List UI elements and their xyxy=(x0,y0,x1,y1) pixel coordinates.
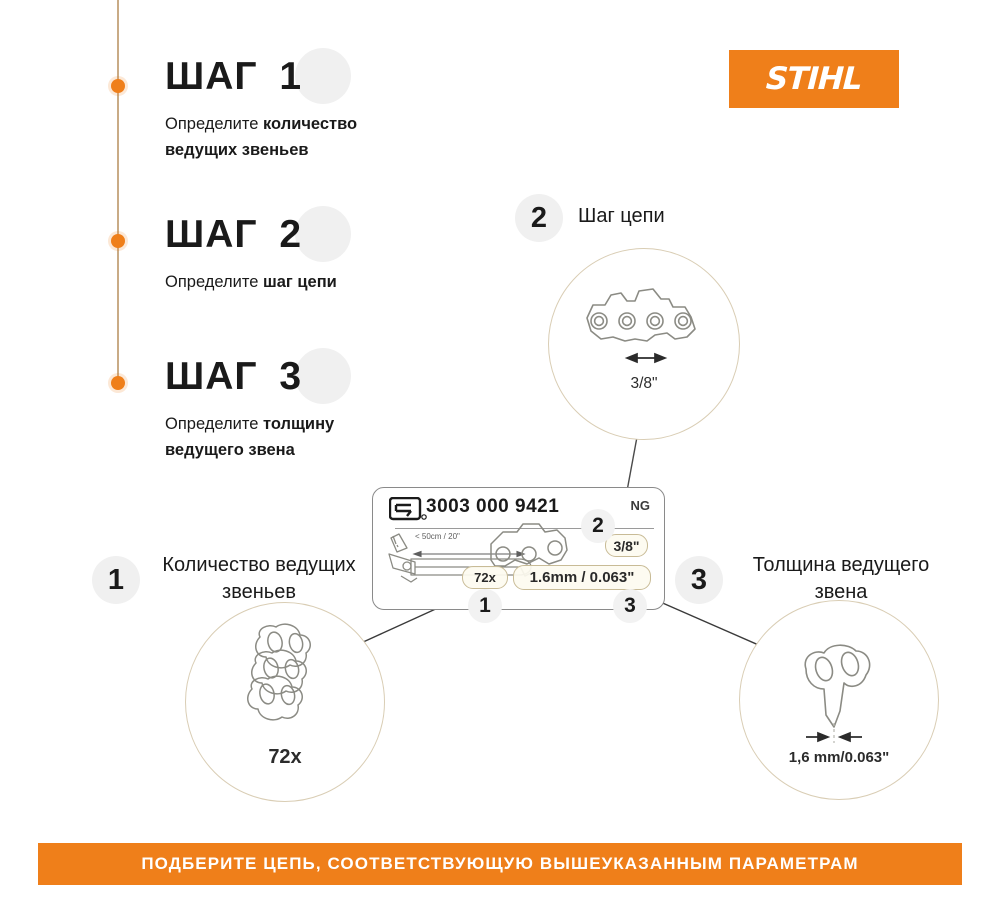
callout-badge-1: 1 xyxy=(92,556,140,604)
step-number-halo-1 xyxy=(295,48,351,104)
callout-badge-2-number: 2 xyxy=(531,202,547,235)
chain-pitch-drawing xyxy=(549,255,739,385)
step-desc-plain-3: Определите xyxy=(165,415,263,433)
step-number-halo-2 xyxy=(295,206,351,262)
step-desc-1: Определите количество ведущих звеньев xyxy=(165,112,415,163)
bottom-banner-text: ПОДБЕРИТЕ ЦЕПЬ, СООТВЕТСТВУЮЩУЮ ВЫШЕУКАЗ… xyxy=(141,854,858,874)
step-number-1: 1 xyxy=(279,55,302,98)
step-title-2: ШАГ 2 xyxy=(165,215,337,254)
stihl-logo-text: STIHL xyxy=(765,61,863,97)
step-desc-3: Определите толщину ведущего звена xyxy=(165,412,415,463)
step-block-3: ШАГ 3 Определите толщину ведущего звена xyxy=(165,357,415,463)
sticker-pill-gauge: 1.6mm / 0.063" xyxy=(513,565,651,590)
callout-badge-3-number: 3 xyxy=(691,564,707,597)
pitch-value-caption: 3/8" xyxy=(549,375,739,393)
callout-badge-2: 2 xyxy=(515,194,563,242)
callout-badge-1-number: 1 xyxy=(108,564,124,597)
step-block-2: ШАГ 2 Определите шаг цепи xyxy=(165,215,337,296)
sticker-tag-3-number: 3 xyxy=(624,594,636,618)
callout-label-3: Толщина ведущего звена xyxy=(726,552,956,606)
step-number-halo-3 xyxy=(295,348,351,404)
detail-circle-pitch: 3/8" xyxy=(548,248,740,440)
timeline-dot-step1 xyxy=(111,79,125,93)
sticker-pill-pitch-text: 3/8" xyxy=(613,538,639,554)
timeline-line xyxy=(117,0,119,388)
step-title-3: ШАГ 3 xyxy=(165,357,415,396)
sticker-part-number: 3003 000 9421 xyxy=(426,496,559,518)
stihl-mark-icon xyxy=(389,497,429,523)
detail-circle-links: 72x xyxy=(185,602,385,802)
drive-links-stack-drawing xyxy=(186,615,384,755)
bottom-banner: ПОДБЕРИТЕ ЦЕПЬ, СООТВЕТСТВУЮЩУЮ ВЫШЕУКАЗ… xyxy=(38,843,962,885)
step-desc-plain-1: Определите xyxy=(165,115,263,133)
links-count-caption: 72x xyxy=(186,746,384,769)
sticker-pill-drive-links-text: 72x xyxy=(474,570,496,585)
step-block-1: ШАГ 1 Определите количество ведущих звен… xyxy=(165,57,415,163)
gauge-value-caption: 1,6 mm/0.063" xyxy=(740,749,938,766)
sticker-chain-code: NG xyxy=(631,498,651,513)
sticker-tag-2-number: 2 xyxy=(592,514,604,538)
step-desc-2: Определите шаг цепи xyxy=(165,270,337,296)
step-word-3: ШАГ xyxy=(165,355,257,398)
callout-badge-3: 3 xyxy=(675,556,723,604)
step-desc-bold-2: шаг цепи xyxy=(263,273,337,291)
step-word-2: ШАГ xyxy=(165,213,257,256)
step-word-1: ШАГ xyxy=(165,55,257,98)
sticker-tag-2: 2 xyxy=(581,509,615,543)
step-desc-plain-2: Определите xyxy=(165,273,263,291)
stihl-logo: STIHL xyxy=(729,50,899,108)
sticker-tag-1: 1 xyxy=(468,589,502,623)
drive-link-gauge-drawing xyxy=(740,619,938,769)
detail-circle-gauge: 1,6 mm/0.063" xyxy=(739,600,939,800)
step-number-2: 2 xyxy=(279,213,302,256)
timeline-dot-step2 xyxy=(111,234,125,248)
infographic-canvas: ШАГ 1 Определите количество ведущих звен… xyxy=(0,0,1000,900)
sticker-pill-gauge-text: 1.6mm / 0.063" xyxy=(530,569,635,586)
step-title-1: ШАГ 1 xyxy=(165,57,415,96)
sticker-tag-1-number: 1 xyxy=(479,594,491,618)
sticker-bar-length: < 50cm / 20" xyxy=(415,532,460,541)
step-number-3: 3 xyxy=(279,355,302,398)
sticker-tag-3: 3 xyxy=(613,589,647,623)
callout-label-1: Количество ведущих звеньев xyxy=(148,552,370,606)
sticker-pill-pitch: 3/8" xyxy=(605,534,648,557)
sticker-pill-drive-links: 72x xyxy=(462,566,508,589)
timeline-dot-step3 xyxy=(111,376,125,390)
callout-label-2: Шаг цепи xyxy=(578,203,758,230)
